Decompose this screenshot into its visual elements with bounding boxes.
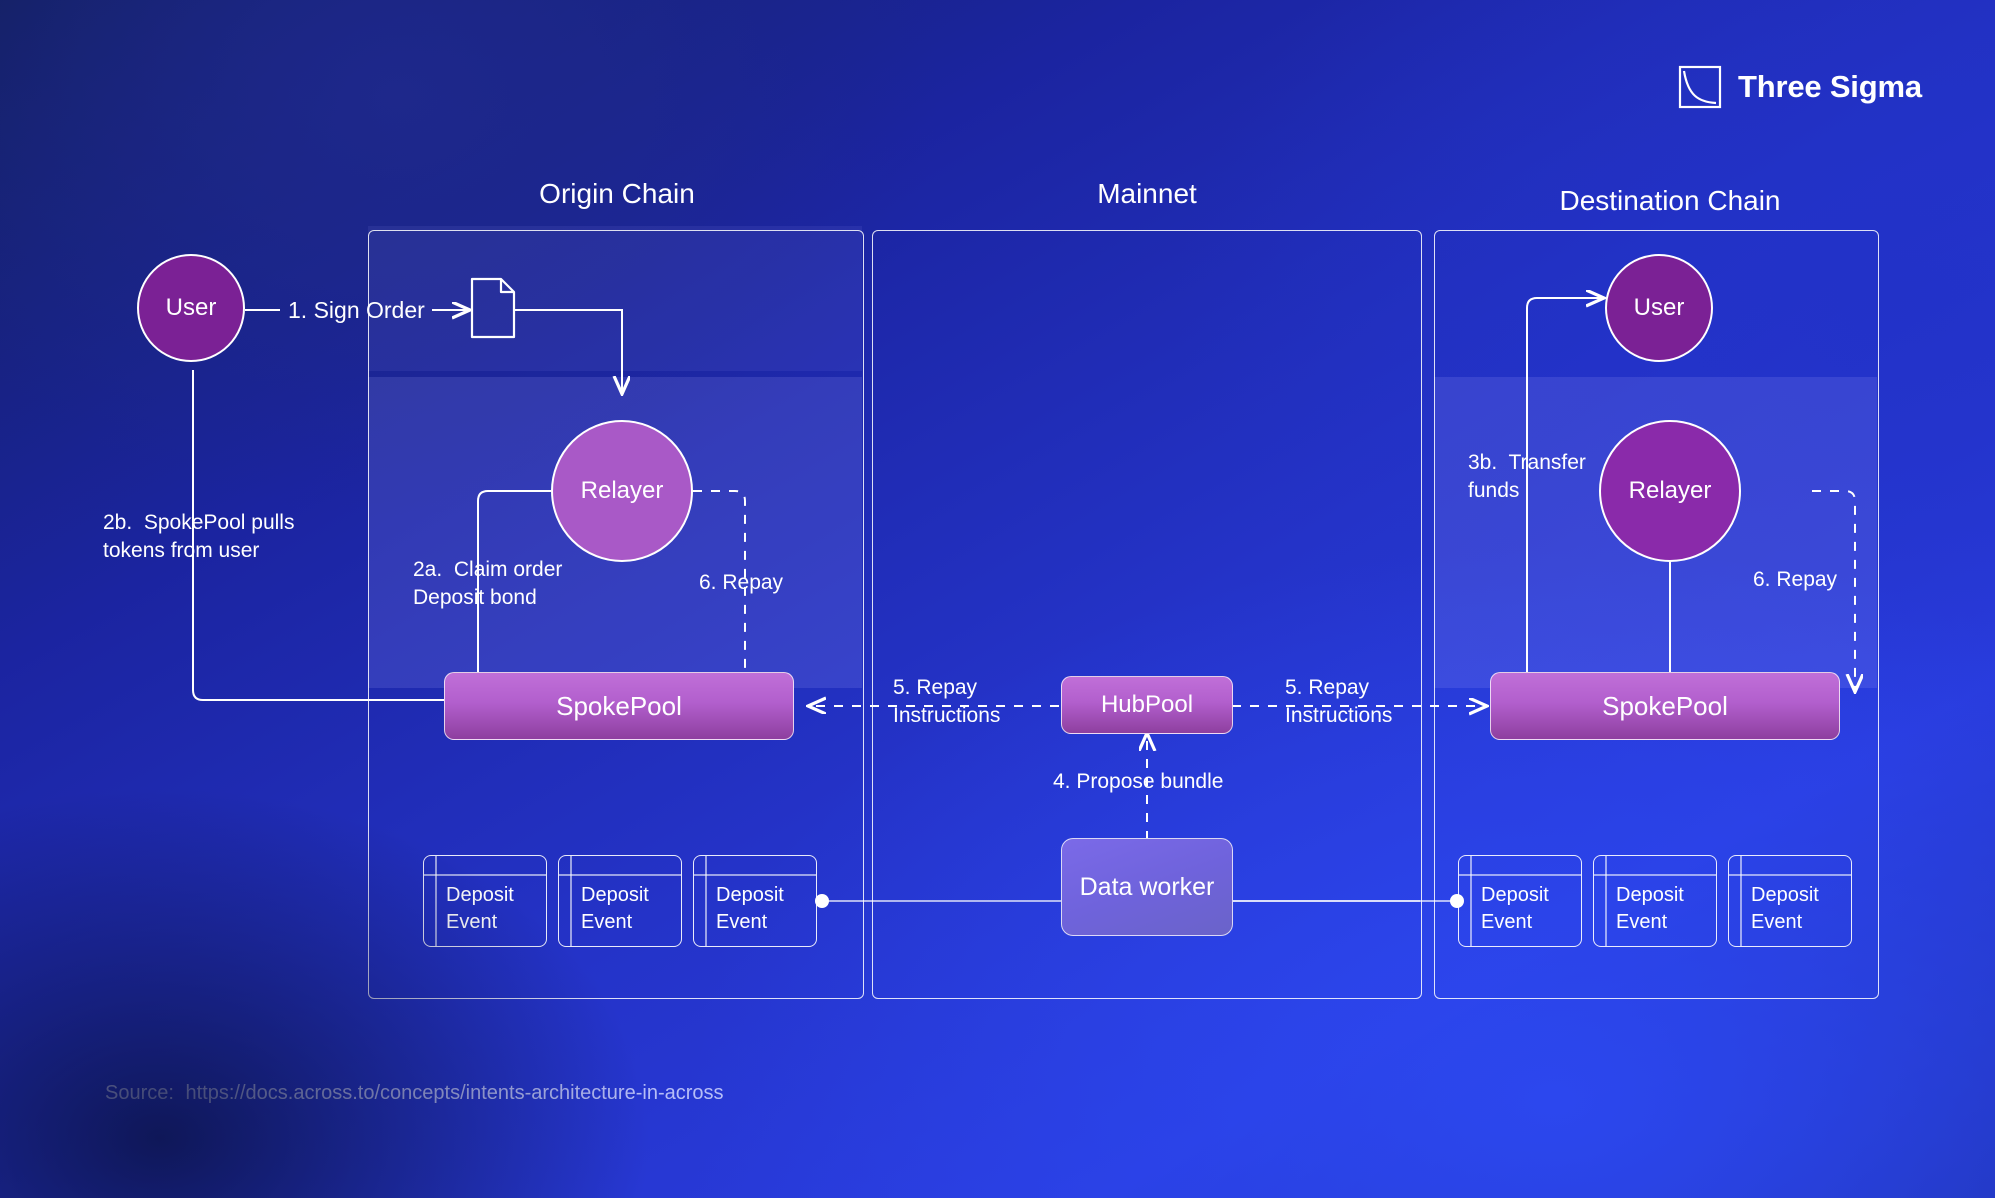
step-1-sign-order-label: 1. Sign Order: [288, 296, 425, 324]
step-2b-line2: tokens from user: [103, 539, 259, 562]
node-destination-spokepool[interactable]: SpokePool: [1490, 672, 1840, 740]
chain-title-destination: Destination Chain: [1559, 185, 1780, 217]
node-origin-user[interactable]: User: [137, 254, 245, 362]
node-origin-relayer[interactable]: Relayer: [551, 420, 693, 562]
card-header-rule: [1459, 874, 1581, 876]
step-5-left-label: 5. RepayInstructions: [893, 674, 1000, 730]
source-attribution: Source: https://docs.across.to/concepts/…: [105, 1082, 724, 1105]
deposit-event-label: DepositEvent: [446, 882, 514, 936]
card-spine: [435, 856, 437, 946]
deposit-event-line1: Deposit: [446, 884, 514, 906]
card-header-rule: [424, 874, 546, 876]
brand-name: Three Sigma: [1738, 69, 1922, 105]
step-6-destination-label: 6. Repay: [1753, 566, 1837, 594]
deposit-event-line1: Deposit: [1481, 884, 1549, 906]
chain-title-origin: Origin Chain: [539, 178, 695, 210]
deposit-event-line1: Deposit: [716, 884, 784, 906]
deposit-event-card[interactable]: DepositEvent: [1728, 855, 1852, 947]
node-destination-relayer[interactable]: Relayer: [1599, 420, 1741, 562]
deposit-event-line1: Deposit: [1751, 884, 1819, 906]
card-spine: [570, 856, 572, 946]
step-3b-label: 3b. Transferfunds: [1468, 449, 1586, 505]
card-spine: [1470, 856, 1472, 946]
step-3b-line1: 3b. Transfer: [1468, 451, 1586, 474]
deposit-event-card[interactable]: DepositEvent: [423, 855, 547, 947]
deposit-event-card[interactable]: DepositEvent: [1593, 855, 1717, 947]
deposit-event-line2: Event: [581, 911, 632, 933]
node-hubpool[interactable]: HubPool: [1061, 676, 1233, 734]
card-spine: [705, 856, 707, 946]
step-5-right-line2: Instructions: [1285, 704, 1392, 727]
deposit-event-line1: Deposit: [1616, 884, 1684, 906]
step-3b-line2: funds: [1468, 479, 1519, 502]
node-origin-spokepool[interactable]: SpokePool: [444, 672, 794, 740]
card-header-rule: [694, 874, 816, 876]
step-2a-line1: 2a. Claim order: [413, 558, 562, 581]
deposit-event-line2: Event: [1481, 911, 1532, 933]
node-destination-user[interactable]: User: [1605, 254, 1713, 362]
step-5-left-line2: Instructions: [893, 704, 1000, 727]
signed-order-document-icon: [470, 277, 516, 339]
step-2b-label: 2b. SpokePool pullstokens from user: [103, 509, 294, 565]
deposit-event-card[interactable]: DepositEvent: [1458, 855, 1582, 947]
card-header-rule: [1729, 874, 1851, 876]
deposit-event-line2: Event: [1751, 911, 1802, 933]
deposit-event-label: DepositEvent: [581, 882, 649, 936]
brand-logo: Three Sigma: [1678, 65, 1922, 109]
diagram-canvas: Three Sigma Origin Chain Mainnet Destina…: [0, 0, 1995, 1198]
card-spine: [1740, 856, 1742, 946]
step-2a-line2: Deposit bond: [413, 586, 537, 609]
card-header-rule: [1594, 874, 1716, 876]
node-data-worker[interactable]: Data worker: [1061, 838, 1233, 936]
three-sigma-curve-icon: [1678, 65, 1722, 109]
step-5-left-line1: 5. Repay: [893, 676, 977, 699]
deposit-event-label: DepositEvent: [1481, 882, 1549, 936]
step-5-right-line1: 5. Repay: [1285, 676, 1369, 699]
deposit-event-label: DepositEvent: [1616, 882, 1684, 936]
deposit-event-card[interactable]: DepositEvent: [558, 855, 682, 947]
deposit-event-line2: Event: [446, 911, 497, 933]
chain-title-mainnet: Mainnet: [1097, 178, 1197, 210]
deposit-event-label: DepositEvent: [716, 882, 784, 936]
deposit-event-card[interactable]: DepositEvent: [693, 855, 817, 947]
card-spine: [1605, 856, 1607, 946]
deposit-event-line2: Event: [716, 911, 767, 933]
step-4-label: 4. Propose bundle: [1053, 768, 1223, 796]
source-label: Source:: [105, 1082, 174, 1104]
card-header-rule: [559, 874, 681, 876]
step-6-origin-label: 6. Repay: [699, 569, 783, 597]
deposit-event-line1: Deposit: [581, 884, 649, 906]
source-url[interactable]: https://docs.across.to/concepts/intents-…: [186, 1082, 724, 1104]
step-2a-label: 2a. Claim orderDeposit bond: [413, 556, 562, 612]
deposit-event-line2: Event: [1616, 911, 1667, 933]
deposit-event-label: DepositEvent: [1751, 882, 1819, 936]
step-5-right-label: 5. RepayInstructions: [1285, 674, 1392, 730]
step-2b-line1: 2b. SpokePool pulls: [103, 511, 294, 534]
